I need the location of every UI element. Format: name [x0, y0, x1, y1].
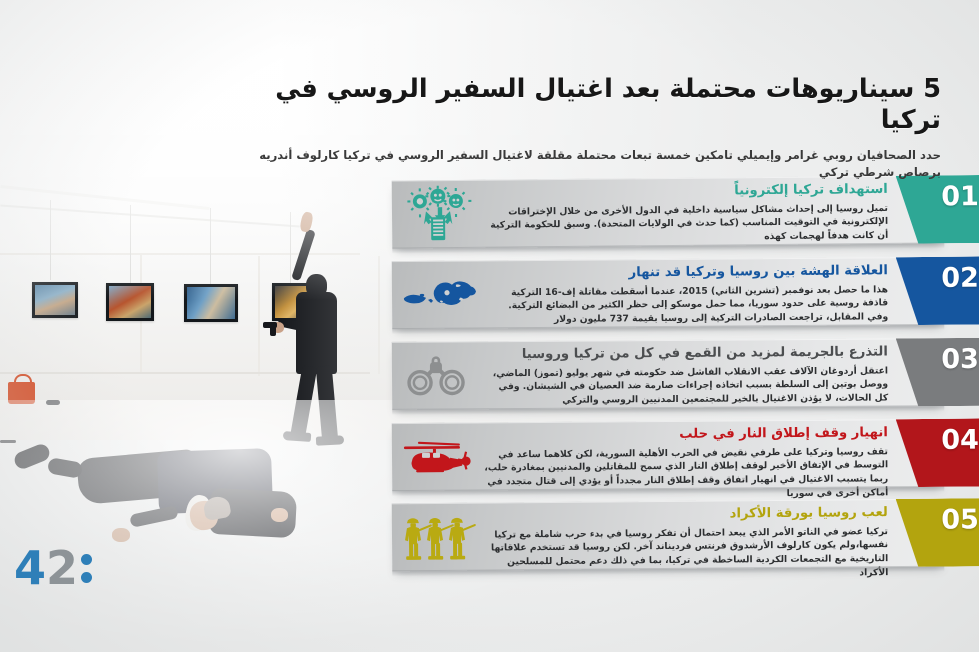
badge-number: 04 — [941, 425, 979, 456]
badge-number: 03 — [941, 344, 979, 375]
scenario-text: لعب روسيا بورقة الأكراد تركيا عضو في الن… — [484, 505, 889, 584]
badge-number: 05 — [941, 504, 979, 535]
logo-numbers: 2 4 — [14, 550, 78, 588]
handcuffs-icon — [400, 348, 476, 403]
helicopter-icon — [400, 430, 476, 485]
scenario-title: التذرع بالجريمة لمزيد من القمع في كل من … — [484, 344, 888, 363]
logo-dot-bottom — [81, 572, 92, 583]
scenario-number-badge: 01 — [896, 175, 979, 244]
scenario-text: استهداف تركيا إلكترونياً تميل روسيا إلى … — [484, 182, 889, 247]
scenario-title: استهداف تركيا إلكترونياً — [484, 182, 888, 202]
scenario-body: تقف روسيا وتركيا على طرفي نقيض في الحرب … — [484, 445, 888, 504]
badge-number: 02 — [941, 263, 979, 294]
badge-number: 01 — [941, 181, 979, 212]
scenario-body: هذا ما حصل بعد نوفمبر (تشرين الثاني) 201… — [484, 283, 888, 328]
russia-turkey-map-icon — [400, 268, 476, 323]
scenario-body: تركيا عضو في الناتو الأمر الذي يبعد احتم… — [484, 525, 888, 584]
channel-logo[interactable]: 2 4 — [14, 550, 92, 588]
scenario-row[interactable]: استهداف تركيا إلكترونياً تميل روسيا إلى … — [392, 175, 945, 248]
scenario-row[interactable]: انهيار وقف إطلاق النار في حلب تقف روسيا … — [392, 419, 945, 491]
scenario-text: التذرع بالجريمة لمزيد من القمع في كل من … — [484, 344, 888, 408]
scenario-row[interactable]: التذرع بالجريمة لمزيد من القمع في كل من … — [392, 338, 944, 410]
soldiers-icon — [400, 510, 476, 565]
scenario-text: العلاقة الهشة بين روسيا وتركيا قد تنهار … — [484, 263, 888, 328]
scenario-number-badge: 03 — [896, 338, 979, 407]
logo-colon-icon — [81, 554, 92, 583]
scenario-body: تميل روسيا إلى إحداث مشاكل سياسية داخلية… — [484, 201, 888, 247]
logo-digit-2: 2 — [46, 550, 78, 588]
infographic-canvas: 5 سيناريوهات محتملة بعد اغتيال السفير ال… — [0, 0, 979, 652]
scenario-number-badge: 02 — [896, 256, 979, 325]
scenario-number-badge: 05 — [896, 498, 979, 567]
header: 5 سيناريوهات محتملة بعد اغتيال السفير ال… — [221, 74, 941, 181]
scenario-row[interactable]: العلاقة الهشة بين روسيا وتركيا قد تنهار … — [392, 257, 945, 329]
scenario-title: العلاقة الهشة بين روسيا وتركيا قد تنهار — [484, 263, 888, 283]
scenario-text: انهيار وقف إطلاق النار في حلب تقف روسيا … — [484, 425, 889, 504]
logo-digit-4: 4 — [14, 550, 46, 588]
logo-dot-top — [81, 554, 92, 565]
scenario-body: اعتقل أردوغان الآلاف عقب الانقلاب الفاشل… — [484, 364, 888, 409]
page-subtitle: حدد الصحافيان روبي غرامر وإيميلي تامكين … — [221, 147, 941, 181]
scenario-row[interactable]: لعب روسيا بورقة الأكراد تركيا عضو في الن… — [392, 499, 945, 572]
scenario-title: انهيار وقف إطلاق النار في حلب — [484, 425, 888, 445]
scenario-title: لعب روسيا بورقة الأكراد — [484, 505, 888, 525]
malware-server-icon — [400, 187, 477, 242]
page-title: 5 سيناريوهات محتملة بعد اغتيال السفير ال… — [221, 74, 941, 136]
scenario-number-badge: 04 — [896, 418, 979, 487]
